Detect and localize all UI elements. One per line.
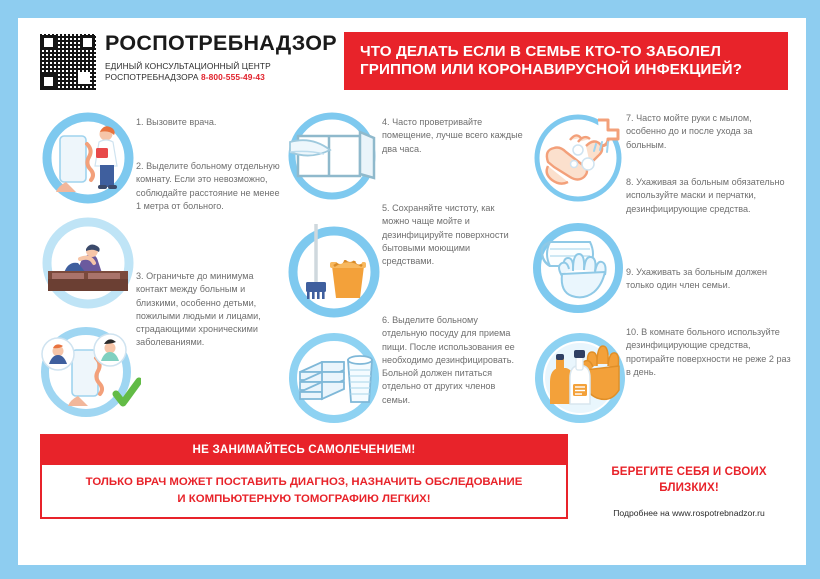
advice-item-3: 3. Ограничьте до минимума контакт между … <box>136 270 286 350</box>
title-line-1: ЧТО ДЕЛАТЬ ЕСЛИ В СЕМЬЕ КТО-ТО ЗАБОЛЕЛ <box>360 43 774 61</box>
advice-item-5: 5. Сохраняйте чистоту, как можно чаще мо… <box>382 202 530 268</box>
warning-body-line2: И КОМПЬЮТЕРНУЮ ТОМОГРАФИЮ ЛЕГКИХ! <box>52 491 556 508</box>
advice-column-2: 4. Часто проветривайте помещение, лучше … <box>286 108 530 426</box>
advice-column-3: 7. Часто мойте руки с мылом, особенно до… <box>530 108 798 426</box>
title-banner: ЧТО ДЕЛАТЬ ЕСЛИ В СЕМЬЕ КТО-ТО ЗАБОЛЕЛ Г… <box>344 32 788 90</box>
poster-header: РОСПОТРЕБНАДЗОР ЕДИНЫЙ КОНСУЛЬТАЦИОННЫЙ … <box>40 32 788 94</box>
doctor-phone-consultation-icon <box>40 108 136 208</box>
column-1-texts: 1. Вызовите врача. 2. Выделите больному … <box>136 108 286 426</box>
hand-washing-tap-icon <box>528 106 632 210</box>
column-3-icons <box>530 108 626 426</box>
brand-text: РОСПОТРЕБНАДЗОР ЕДИНЫЙ КОНСУЛЬТАЦИОННЫЙ … <box>105 32 337 84</box>
open-window-ventilation-icon <box>284 106 384 206</box>
qr-code-icon <box>40 34 96 90</box>
title-line-2: ГРИППОМ ИЛИ КОРОНАВИРУСНОЙ ИНФЕКЦИЕЙ? <box>360 61 774 79</box>
column-3-texts: 7. Часто мойте руки с мылом, особенно до… <box>626 108 798 426</box>
warning-headline: НЕ ЗАНИМАЙТЕСЬ САМОЛЕЧЕНИЕМ! <box>40 434 568 465</box>
poster-sheet: РОСПОТРЕБНАДЗОР ЕДИНЫЙ КОНСУЛЬТАЦИОННЫЙ … <box>18 18 806 565</box>
column-1-icons <box>40 108 136 426</box>
disinfectant-spray-gloved-hand-icon <box>528 326 632 430</box>
advice-item-1: 1. Вызовите врача. <box>136 116 286 129</box>
brand-subtitle: ЕДИНЫЙ КОНСУЛЬТАЦИОННЫЙ ЦЕНТР РОСПОТРЕБН… <box>105 61 337 84</box>
advice-column-1: 1. Вызовите врача. 2. Выделите больному … <box>40 108 286 426</box>
warning-body: ТОЛЬКО ВРАЧ МОЖЕТ ПОСТАВИТЬ ДИАГНОЗ, НАЗ… <box>40 465 568 519</box>
brand-name: РОСПОТРЕБНАДЗОР <box>105 33 337 55</box>
column-2-icons <box>286 108 382 426</box>
hotline-phone: 8-800-555-49-43 <box>201 72 265 82</box>
closing-headline-line2: БЛИЗКИХ! <box>590 480 788 496</box>
warning-body-line1: ТОЛЬКО ВРАЧ МОЖЕТ ПОСТАВИТЬ ДИАГНОЗ, НАЗ… <box>52 474 556 491</box>
mask-and-gloves-icon <box>528 216 632 320</box>
advice-item-9: 9. Ухаживать за больным должен только од… <box>626 266 798 293</box>
brand-block: РОСПОТРЕБНАДЗОР ЕДИНЫЙ КОНСУЛЬТАЦИОННЫЙ … <box>40 32 332 90</box>
advice-item-10: 10. В комнате больного используйте дезин… <box>626 326 798 379</box>
advice-item-8: 8. Ухаживая за больным обязательно испол… <box>626 176 798 216</box>
more-info-text: Подробнее на www.rospotrebnadzor.ru <box>590 508 788 518</box>
closing-block: БЕРЕГИТЕ СЕБЯ И СВОИХ БЛИЗКИХ! Подробнее… <box>590 434 788 518</box>
advice-item-6: 6. Выделите больному отдельную посуду дл… <box>382 314 530 407</box>
warning-block: НЕ ЗАНИМАЙТЕСЬ САМОЛЕЧЕНИЕМ! ТОЛЬКО ВРАЧ… <box>40 434 568 519</box>
advice-item-7: 7. Часто мойте руки с мылом, особенно до… <box>626 112 798 152</box>
patient-resting-on-sofa-icon <box>40 213 136 313</box>
advice-item-2: 2. Выделите больному отдельную комнату. … <box>136 160 286 213</box>
advice-columns: 1. Вызовите врача. 2. Выделите больному … <box>40 108 788 426</box>
brand-subtitle-line2: РОСПОТРЕБНАДЗОРА 8-800-555-49-43 <box>105 72 337 84</box>
video-call-two-people-checkmark-icon <box>36 320 141 425</box>
closing-headline-line1: БЕРЕГИТЕ СЕБЯ И СВОИХ <box>590 464 788 480</box>
advice-item-4: 4. Часто проветривайте помещение, лучше … <box>382 116 530 156</box>
separate-dishes-cups-icon <box>284 326 388 430</box>
column-2-texts: 4. Часто проветривайте помещение, лучше … <box>382 108 530 426</box>
poster-frame: РОСПОТРЕБНАДЗОР ЕДИНЫЙ КОНСУЛЬТАЦИОННЫЙ … <box>0 0 820 579</box>
mop-and-bucket-cleaning-icon <box>284 220 388 324</box>
closing-headline: БЕРЕГИТЕ СЕБЯ И СВОИХ БЛИЗКИХ! <box>590 464 788 495</box>
poster-footer: НЕ ЗАНИМАЙТЕСЬ САМОЛЕЧЕНИЕМ! ТОЛЬКО ВРАЧ… <box>40 434 788 519</box>
brand-subtitle-line1: ЕДИНЫЙ КОНСУЛЬТАЦИОННЫЙ ЦЕНТР <box>105 61 337 73</box>
